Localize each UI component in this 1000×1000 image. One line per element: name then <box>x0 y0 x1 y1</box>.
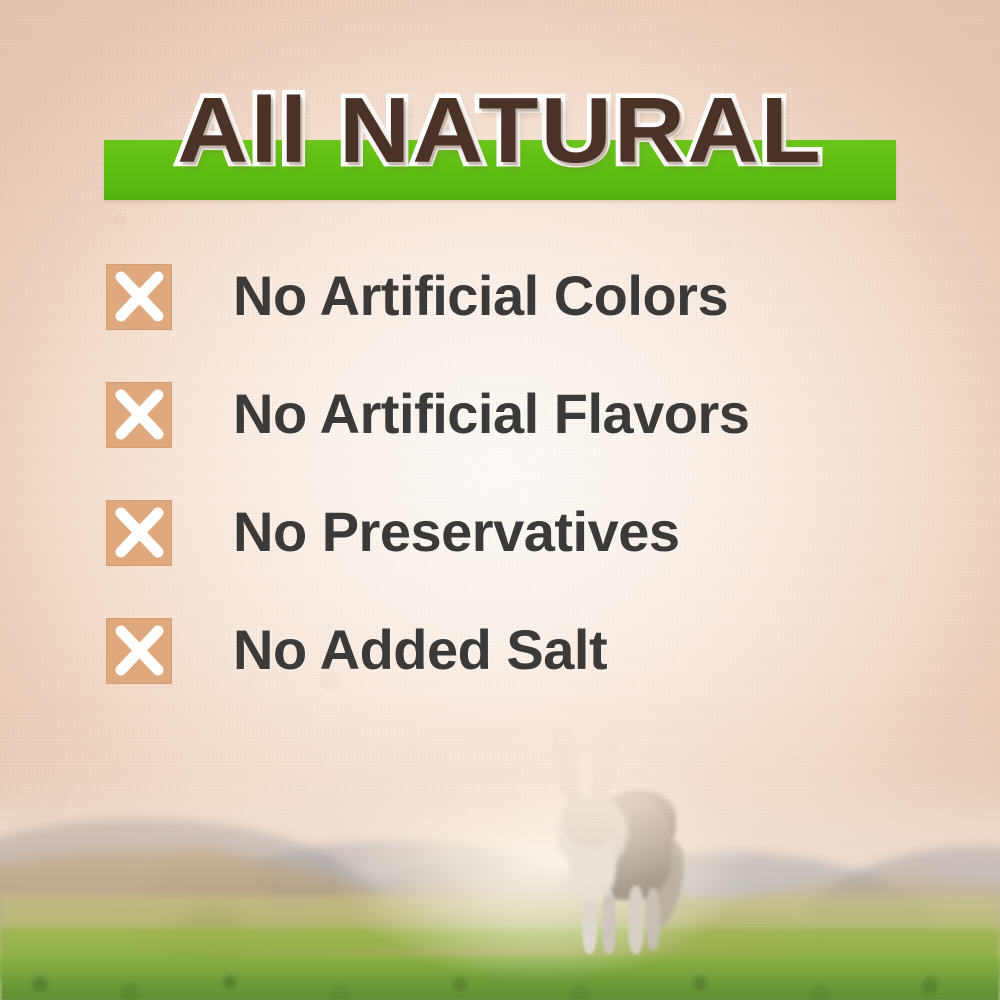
headline-banner: All NATURAL <box>0 78 1000 190</box>
x-mark-icon <box>106 500 172 566</box>
feature-label: No Artificial Colors <box>233 256 728 336</box>
x-mark-icon <box>106 618 172 684</box>
feature-label: No Preservatives <box>233 492 680 572</box>
x-mark-icon <box>106 264 172 330</box>
feature-label: No Artificial Flavors <box>233 374 749 454</box>
landscape-photo <box>0 700 1000 1000</box>
dog-backlight-glow <box>520 710 710 890</box>
feature-label: No Added Salt <box>233 610 607 690</box>
dog-hind-leg <box>646 888 660 950</box>
dog-hind-leg <box>628 886 644 954</box>
feature-list: No Artificial Colors No Artificial Flavo… <box>106 262 906 734</box>
dog-photo-subject <box>530 720 700 960</box>
list-item: No Artificial Flavors <box>106 380 906 498</box>
list-item: No Added Salt <box>106 616 906 734</box>
list-item: No Artificial Colors <box>106 262 906 380</box>
x-mark-icon <box>106 382 172 448</box>
dog-front-leg <box>602 890 616 954</box>
product-feature-poster: All NATURAL No Artificial Colors No Arti… <box>0 0 1000 1000</box>
list-item: No Preservatives <box>106 498 906 616</box>
page-title: All NATURAL <box>0 78 1000 182</box>
